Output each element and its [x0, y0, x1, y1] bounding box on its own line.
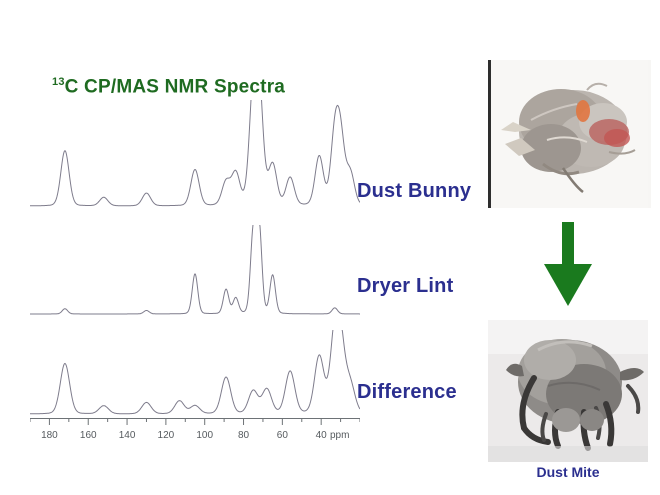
axis-tick-160: 160: [80, 430, 97, 441]
isotope-superscript: 13: [52, 76, 65, 88]
dust-mite-caption: Dust Mite: [488, 464, 648, 480]
axis-tick-180: 180: [41, 430, 58, 441]
trace-label-difference: Difference: [357, 381, 457, 404]
axis-tick-40: 40: [316, 430, 327, 441]
axis-tick-60: 60: [277, 430, 288, 441]
axis-tick-140: 140: [119, 430, 136, 441]
axis-tick-100: 100: [196, 430, 213, 441]
dust-mite-photo: [488, 320, 648, 462]
axis-unit-label: ppm: [330, 430, 349, 441]
nmr-figure: 13C CP/MAS NMR Spectra 18016014012010080…: [0, 0, 660, 495]
ppm-axis: [30, 418, 360, 430]
figure-title: 13C CP/MAS NMR Spectra: [52, 76, 285, 98]
figure-title-text: C CP/MAS NMR Spectra: [65, 76, 285, 97]
spectrum-dryer-lint: [30, 225, 360, 320]
spectrum-dust-bunny: [30, 100, 360, 212]
dust-bunny-photo: [488, 60, 651, 208]
trace-label-dust-bunny: Dust Bunny: [357, 180, 471, 203]
green-down-arrow-icon: [540, 218, 596, 310]
axis-tick-80: 80: [238, 430, 249, 441]
spectrum-difference: [30, 330, 360, 420]
trace-label-dryer-lint: Dryer Lint: [357, 275, 453, 298]
axis-tick-120: 120: [158, 430, 175, 441]
